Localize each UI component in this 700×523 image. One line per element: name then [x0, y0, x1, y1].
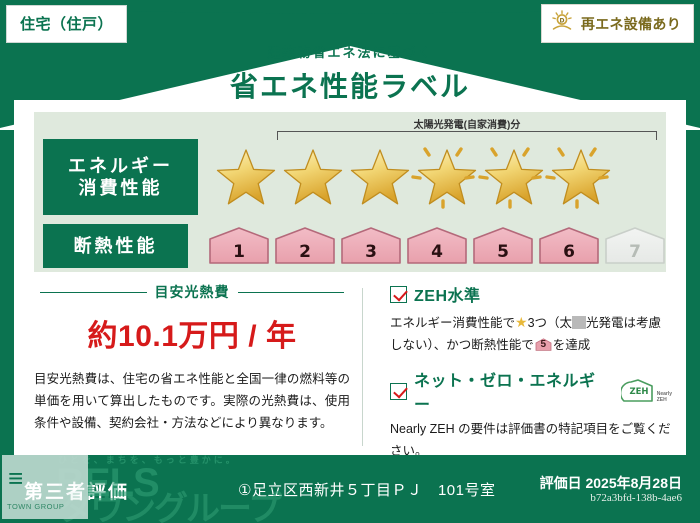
- zeh-logo: ZEH Nearly ZEH: [621, 379, 672, 403]
- inline-star-icon: ★: [515, 314, 528, 330]
- claim-net-zero-title: ネット・ゼロ・エネルギー: [414, 367, 611, 415]
- insulation-level-1: 1: [208, 226, 270, 266]
- heading-rule-right: [238, 292, 345, 293]
- star-6: [549, 145, 613, 209]
- house-type-tag: 住宅（住戸）: [6, 5, 127, 43]
- energy-performance-label-box: エネルギー 消費性能: [43, 139, 198, 215]
- evaluation-date: 評価日 2025年8月28日: [540, 473, 682, 493]
- solar-sparkle-icon: [478, 141, 550, 213]
- claim-zeh-standard-title: ZEH水準: [414, 282, 481, 306]
- insulation-performance-row: 断熱性能 1234567: [34, 222, 666, 270]
- inline-insulation-badge-value: 5: [535, 338, 552, 351]
- solar-sparkle-icon: [545, 141, 617, 213]
- insulation-level-7: 7: [604, 226, 666, 266]
- claim-text-part1: エネルギー消費性能で: [390, 316, 515, 330]
- svg-text:1: 1: [233, 242, 245, 262]
- star-2: [281, 145, 345, 209]
- insulation-performance-label-box: 断熱性能: [43, 224, 188, 268]
- svg-text:ZEH: ZEH: [629, 387, 648, 397]
- star-4: [415, 145, 479, 209]
- svg-text:D: D: [559, 17, 564, 24]
- energy-label-line2: 消費性能: [43, 177, 198, 200]
- claim-zeh-standard: ZEH水準 エネルギー消費性能で★3つ（太光発電は考慮しない）、かつ断熱性能で …: [390, 282, 672, 356]
- energy-performance-label: 住宅（住戸） D 再エネ設備あり 建築物省エネ法に基づく 省エネ性能ラベル: [0, 0, 700, 523]
- svg-text:3: 3: [365, 242, 377, 262]
- checkmark-icon: [390, 383, 407, 400]
- svg-text:4: 4: [431, 242, 443, 262]
- svg-text:7: 7: [629, 242, 641, 262]
- page-title: 省エネ性能ラベル: [0, 65, 700, 105]
- star-1: [214, 145, 278, 209]
- claim-zeh-standard-header: ZEH水準: [390, 282, 672, 306]
- claim-net-zero-header: ネット・ゼロ・エネルギー ZEH Nearly ZEH: [390, 367, 672, 415]
- solar-sun-icon: D: [550, 10, 574, 37]
- energy-label-line1: エネルギー: [43, 155, 198, 178]
- insulation-level-4: 4: [406, 226, 468, 266]
- star-5: [482, 145, 546, 209]
- property-address: ①足立区西新井５丁目ＰＪ 101号室: [238, 479, 495, 500]
- checkmark-icon: [390, 286, 407, 303]
- claim-net-zero-energy: ネット・ゼロ・エネルギー ZEH Nearly ZEH Nearly ZEH の…: [390, 367, 672, 462]
- svg-text:2: 2: [299, 242, 311, 262]
- insulation-level-6: 6: [538, 226, 600, 266]
- insulation-level-3: 3: [340, 226, 402, 266]
- label-title-block: 建築物省エネ法に基づく 省エネ性能ラベル: [0, 42, 700, 105]
- utility-cost-value: 約10.1万円 / 年: [22, 311, 362, 355]
- svg-text:5: 5: [497, 242, 509, 262]
- performance-panel: 太陽光発電(自家消費)分 エネルギー 消費性能 断熱性能 1234567: [34, 112, 666, 272]
- footer-bar: 第三者評価 ①足立区西新井５丁目ＰＪ 101号室 評価日 2025年8月28日 …: [0, 455, 700, 523]
- insulation-level-scale: 1234567: [208, 226, 666, 266]
- utility-cost-column: 目安光熱費 約10.1万円 / 年 目安光熱費は、住宅の省エネ性能と全国一律の燃…: [22, 282, 372, 452]
- star-3: [348, 145, 412, 209]
- insulation-level-5: 5: [472, 226, 534, 266]
- svg-text:6: 6: [563, 242, 575, 262]
- inline-insulation-badge: 5: [535, 338, 552, 351]
- utility-cost-heading-text: 目安光熱費: [155, 282, 230, 302]
- utility-cost-heading: 目安光熱費: [22, 282, 362, 302]
- insulation-level-2: 2: [274, 226, 336, 266]
- claim-zeh-standard-body: エネルギー消費性能で★3つ（太光発電は考慮しない）、かつ断熱性能で 5 を達成: [390, 310, 672, 356]
- solar-sparkle-icon: [411, 141, 483, 213]
- utility-cost-note: 目安光熱費は、住宅の省エネ性能と全国一律の燃料等の単価を用いて算出したものです。…: [22, 369, 362, 435]
- solar-generation-note: 太陽光発電(自家消費)分: [272, 116, 662, 131]
- zeh-logo-subtext: Nearly ZEH: [657, 392, 672, 403]
- star-rating: [214, 145, 613, 209]
- zeh-sub-line2: ZEH: [657, 397, 667, 403]
- renewable-equipment-badge: D 再エネ設備あり: [541, 4, 694, 43]
- redaction-block: [572, 316, 586, 329]
- subtitle-law: 建築物省エネ法に基づく: [0, 42, 700, 61]
- claims-column: ZEH水準 エネルギー消費性能で★3つ（太光発電は考慮しない）、かつ断熱性能で …: [372, 282, 672, 452]
- zeh-house-icon: ZEH: [621, 379, 655, 403]
- energy-performance-row: エネルギー 消費性能: [34, 136, 666, 218]
- renewable-badge-label: 再エネ設備あり: [581, 14, 681, 34]
- evaluation-uid: b72a3bfd-138b-4ae6: [590, 492, 682, 504]
- content-columns: 目安光熱費 約10.1万円 / 年 目安光熱費は、住宅の省エネ性能と全国一律の燃…: [22, 282, 682, 452]
- third-party-evaluation-label: 第三者評価: [24, 477, 129, 504]
- heading-rule-left: [40, 292, 147, 293]
- claim-text-part4: を達成: [553, 338, 591, 352]
- claim-text-part2: 3つ（太: [528, 316, 572, 330]
